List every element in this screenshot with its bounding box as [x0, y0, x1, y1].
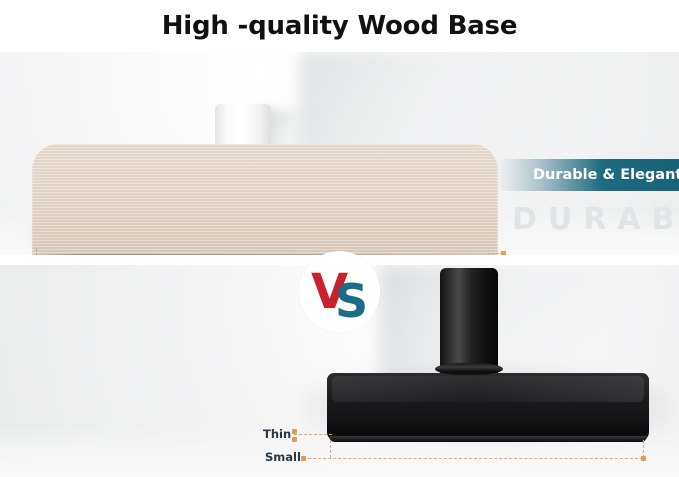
thin-tick-top	[292, 429, 297, 434]
small-measure-line	[303, 458, 643, 459]
big-connector-left	[36, 248, 37, 255]
watermark-durable: DURABLE	[512, 202, 679, 237]
vs-letter-s: S	[335, 274, 368, 328]
product-comparison-image: High -quality Wood Base DURABLE Durable …	[0, 0, 679, 477]
panel-good-wood-base: DURABLE Durable & Elegant Thick Big	[0, 52, 679, 255]
vs-badge: V S	[299, 251, 380, 332]
black-base-thickness-edge	[329, 436, 647, 442]
vs-badge-graphic: V S	[299, 251, 380, 332]
badge-durable-elegant: Durable & Elegant	[497, 159, 679, 191]
small-tick-left	[301, 456, 306, 461]
page-title: High -quality Wood Base	[0, 0, 679, 52]
measure-label-thin: Thin	[263, 427, 291, 441]
small-tick-right	[641, 456, 646, 461]
thin-measure-line	[294, 434, 332, 435]
measure-label-small: Small	[265, 450, 301, 464]
wood-base-surface	[32, 144, 498, 255]
thin-tick-bottom	[292, 437, 297, 442]
black-base-gloss-highlight	[332, 376, 644, 402]
small-connector-left	[330, 440, 331, 458]
stand-pole-collar-black	[435, 363, 503, 375]
